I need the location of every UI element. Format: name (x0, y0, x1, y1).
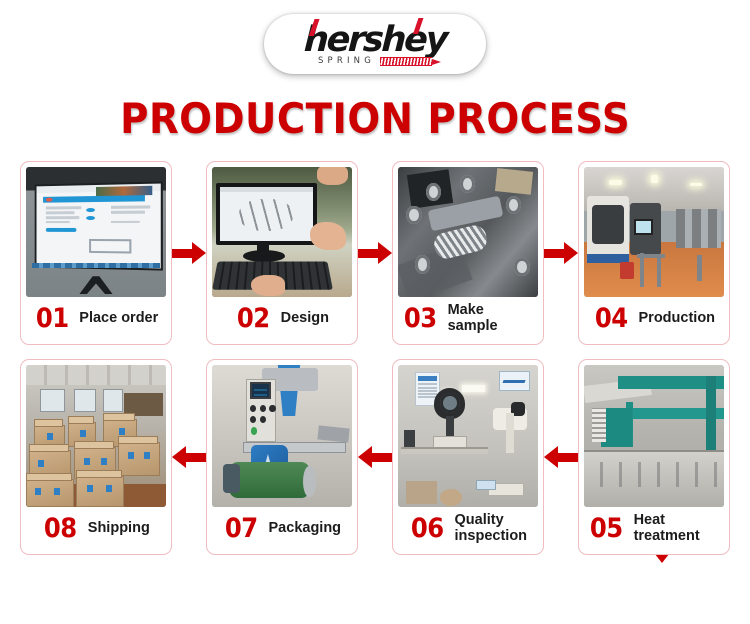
arrow-left-icon (544, 446, 578, 468)
step-label: 03 Make sample (398, 297, 538, 339)
step-title: Make sample (448, 302, 534, 334)
arrow-left-icon (358, 446, 392, 468)
step-number: 01 (36, 305, 69, 332)
step-number: 05 (590, 515, 623, 542)
step-title: Production (639, 310, 716, 326)
spring-coil-icon (380, 57, 432, 66)
step-title: Packaging (269, 520, 342, 536)
photo-make-sample (398, 167, 538, 297)
arrow-right-icon (358, 242, 392, 264)
process-step-03[interactable]: 03 Make sample (392, 161, 544, 345)
step-title: Shipping (88, 520, 150, 536)
logo-wordmark: hershey (303, 24, 447, 57)
arrow-right-icon (544, 242, 578, 264)
step-number: 03 (404, 305, 437, 332)
photo-quality-inspection (398, 365, 538, 507)
process-step-08[interactable]: 08 Shipping (20, 359, 172, 555)
step-label: 01 Place order (26, 297, 166, 339)
step-title: Place order (79, 310, 158, 326)
process-step-07[interactable]: 07 Packaging (206, 359, 358, 555)
step-label: 08 Shipping (26, 507, 166, 549)
arrow-right-icon (172, 242, 206, 264)
step-number: 06 (411, 515, 444, 542)
step-label: 04 Production (584, 297, 724, 339)
step-number: 07 (225, 515, 258, 542)
process-step-02[interactable]: 02 Design (206, 161, 358, 345)
process-row-top: 01 Place order 02 Design (0, 161, 750, 345)
arrow-left-icon (172, 446, 206, 468)
step-label: 07 Packaging (212, 507, 352, 549)
step-number: 08 (44, 515, 77, 542)
page-title: PRODUCTION PROCESS (120, 94, 630, 143)
step-title: Quality inspection (455, 512, 528, 544)
photo-design (212, 167, 352, 297)
step-title: Design (281, 310, 329, 326)
step-label: 05 Heat treatment (584, 507, 724, 549)
step-label: 02 Design (212, 297, 352, 339)
photo-heat-treatment (584, 365, 724, 507)
photo-place-order (26, 167, 166, 297)
step-title: Heat treatment (634, 512, 720, 544)
step-number: 02 (237, 305, 270, 332)
photo-packaging (212, 365, 352, 507)
process-step-05[interactable]: 05 Heat treatment (578, 359, 730, 555)
step-label: 06 Quality inspection (398, 507, 538, 549)
process-step-06[interactable]: 06 Quality inspection (392, 359, 544, 555)
photo-shipping (26, 365, 166, 507)
brand-logo: hershey SPRING (264, 14, 486, 74)
process-step-04[interactable]: 04 Production (578, 161, 730, 345)
process-step-01[interactable]: 01 Place order (20, 161, 172, 345)
process-row-bottom: 08 Shipping (0, 359, 750, 555)
page-header: hershey SPRING PRODUCTION PROCESS (0, 0, 750, 143)
step-number: 04 (595, 305, 628, 332)
photo-production (584, 167, 724, 297)
process-flow: 01 Place order 02 Design (0, 161, 750, 555)
